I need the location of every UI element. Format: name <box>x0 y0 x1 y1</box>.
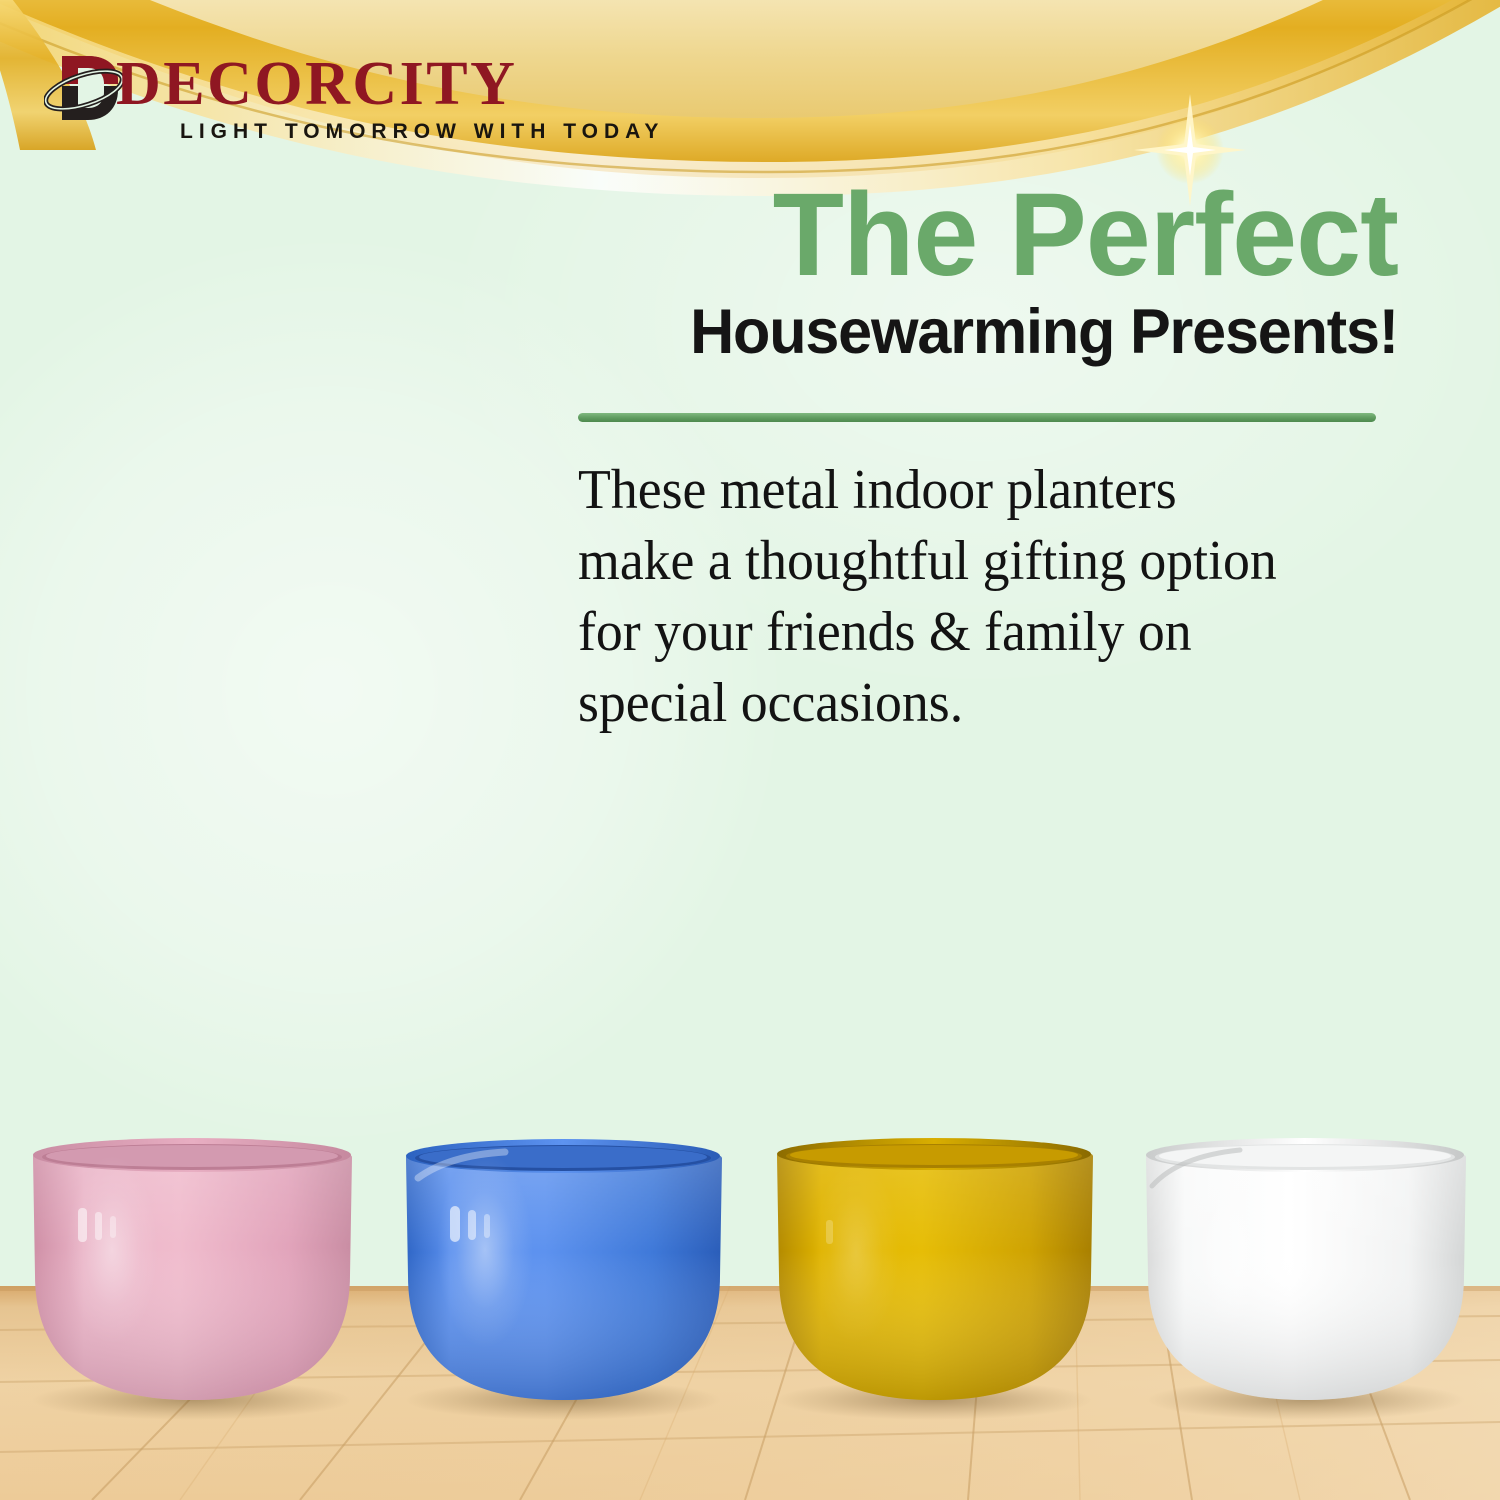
description-line: make a thoughtful gifting option <box>578 526 1375 597</box>
headline-line-1: The Perfect <box>586 176 1398 294</box>
white-planter <box>1145 1138 1466 1420</box>
headline-block: The Perfect Housewarming Presents! <box>578 176 1398 370</box>
pink-planter <box>32 1138 352 1420</box>
section-divider <box>578 413 1376 422</box>
headline-line-2: Housewarming Presents! <box>603 294 1398 370</box>
description-paragraph: These metal indoor planters make a thoug… <box>578 455 1375 739</box>
brand-logo[interactable]: DECORCITY LIGHT TOMORROW WITH TODAY <box>44 48 604 148</box>
product-row <box>0 1100 1500 1500</box>
description-line: These metal indoor planters <box>578 455 1375 526</box>
promo-banner: DECORCITY LIGHT TOMORROW WITH TODAY The … <box>0 0 1500 1500</box>
brand-tagline: LIGHT TOMORROW WITH TODAY <box>180 120 664 144</box>
yellow-planter <box>776 1138 1093 1420</box>
description-line: special occasions. <box>578 668 1375 739</box>
brand-wordmark: DECORCITY <box>116 48 517 120</box>
blue-planter <box>405 1139 722 1420</box>
description-line: for your friends & family on <box>578 597 1375 668</box>
